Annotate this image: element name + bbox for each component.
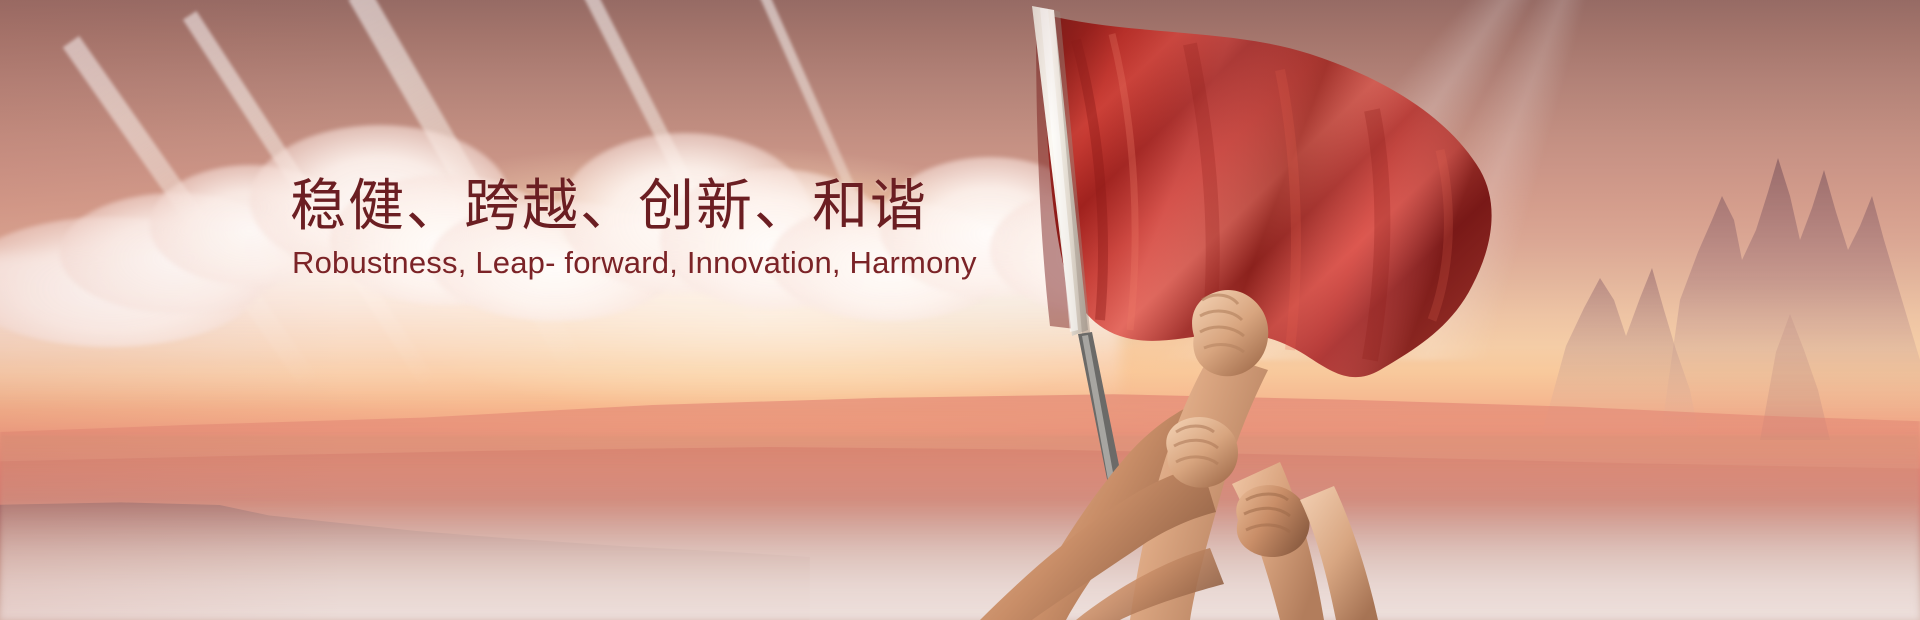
landscape (0, 300, 1920, 620)
banner-text-block: 稳健、跨越、创新、和谐 Robustness, Leap- forward, I… (290, 176, 990, 281)
hero-banner: 稳健、跨越、创新、和谐 Robustness, Leap- forward, I… (0, 0, 1920, 620)
page-subtitle: Robustness, Leap- forward, Innovation, H… (292, 246, 990, 280)
page-title: 稳健、跨越、创新、和谐 (290, 176, 990, 236)
flag-and-hands (980, 0, 1620, 620)
ground-mist (0, 500, 1920, 620)
